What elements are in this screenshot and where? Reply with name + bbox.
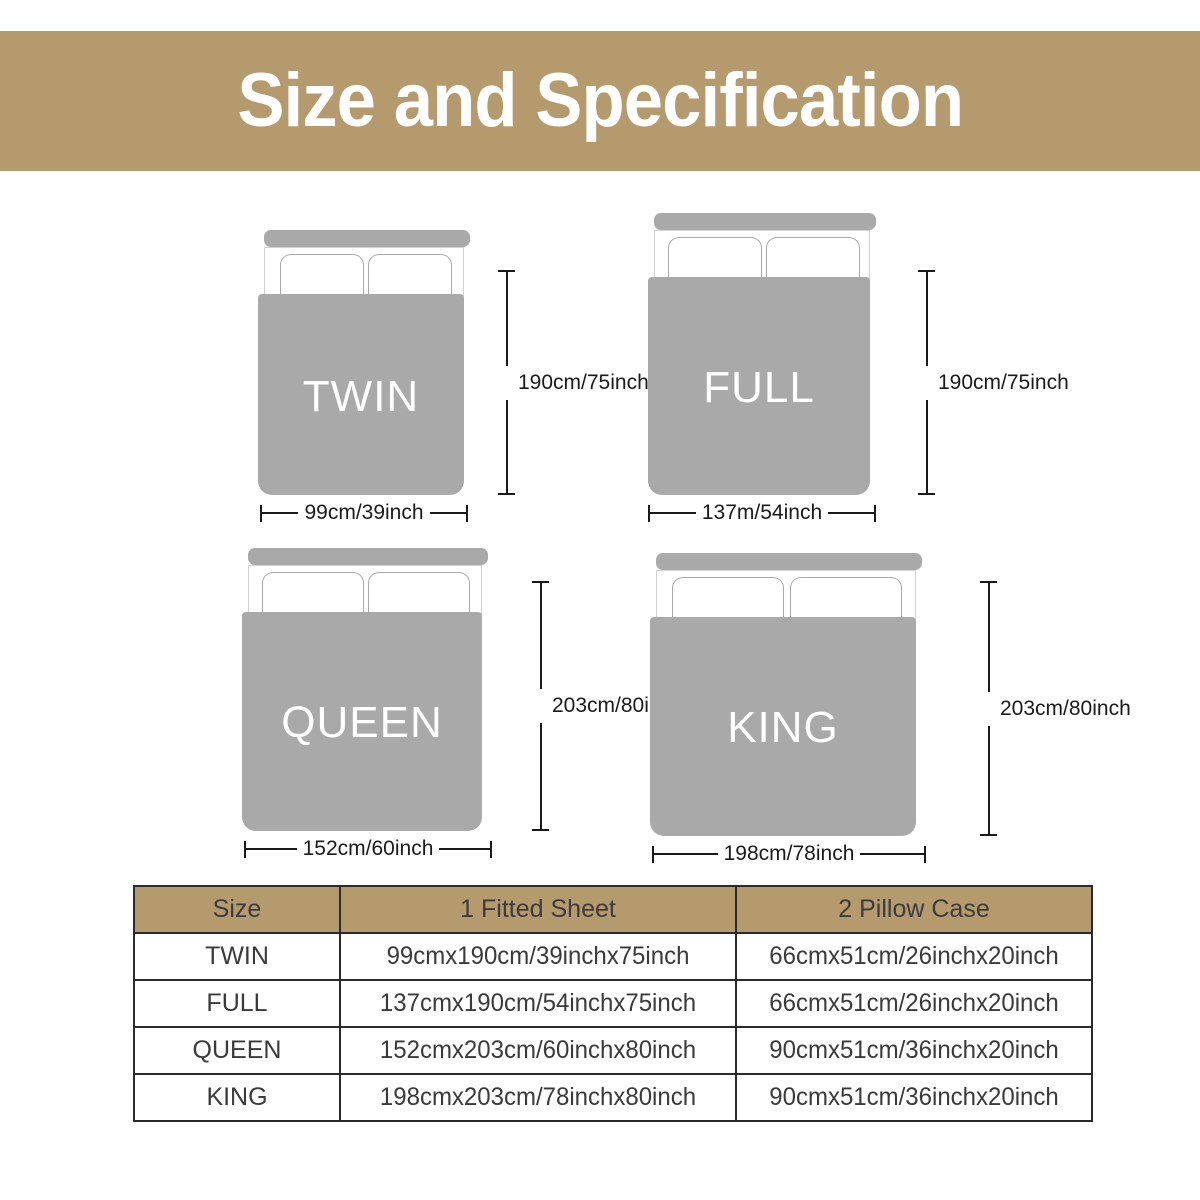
dimension-width-full: 137m/54inch bbox=[648, 502, 876, 524]
cell-fitted-sheet-text: 137cmx190cm/54inchx75inch bbox=[349, 989, 727, 1018]
dimension-cap-bottom bbox=[498, 493, 515, 495]
pillow-left-twin bbox=[280, 254, 364, 299]
bed-diagram-queen: QUEEN 203cm/80inch 152cm/60inch bbox=[242, 548, 617, 858]
cell-pillow-case-text: 66cmx51cm/26inchx20inch bbox=[744, 942, 1084, 971]
dimension-line-lower bbox=[540, 723, 542, 829]
mattress-king: KING bbox=[650, 617, 916, 836]
cell-pillow-case-text: 90cmx51cm/36inchx20inch bbox=[744, 1036, 1084, 1065]
column-header-pillow-case: 2 Pillow Case bbox=[736, 886, 1092, 933]
specification-table: Size 1 Fitted Sheet 2 Pillow Case TWIN 9… bbox=[133, 885, 1093, 1122]
size-specification-infographic: Size and Specification TWIN 190cm/75inch… bbox=[0, 0, 1200, 1200]
dimension-line-right bbox=[439, 848, 490, 850]
dimension-line-left bbox=[262, 512, 298, 514]
bed-illustration-king: KING bbox=[650, 553, 922, 836]
cell-pillow-case: 66cmx51cm/26inchx20inch bbox=[736, 980, 1092, 1027]
cell-pillow-case-text: 90cmx51cm/36inchx20inch bbox=[744, 1083, 1084, 1112]
dimension-line-left bbox=[654, 853, 718, 855]
dimension-line-left bbox=[246, 848, 297, 850]
bed-label-twin: TWIN bbox=[258, 372, 464, 422]
dimension-cap-bottom bbox=[532, 829, 549, 831]
cell-pillow-case: 66cmx51cm/26inchx20inch bbox=[736, 933, 1092, 980]
bed-label-queen: QUEEN bbox=[242, 698, 482, 748]
cell-fitted-sheet-text: 198cmx203cm/78inchx80inch bbox=[349, 1083, 727, 1112]
cell-fitted-sheet: 152cmx203cm/60inchx80inch bbox=[340, 1027, 736, 1074]
cell-fitted-sheet: 198cmx203cm/78inchx80inch bbox=[340, 1074, 736, 1121]
mattress-full: FULL bbox=[648, 277, 870, 495]
headboard-full bbox=[654, 213, 876, 230]
dimension-line-left bbox=[650, 512, 696, 514]
pillow-left-queen bbox=[262, 572, 364, 617]
dimension-line-upper bbox=[988, 583, 990, 692]
dimension-height-full: 190cm/75inch bbox=[918, 270, 935, 495]
pillow-right-full bbox=[766, 237, 860, 282]
mattress-queen: QUEEN bbox=[242, 612, 482, 831]
pillow-right-twin bbox=[368, 254, 452, 299]
dimension-line-lower bbox=[506, 400, 508, 494]
cell-pillow-case: 90cmx51cm/36inchx20inch bbox=[736, 1074, 1092, 1121]
pillow-left-king bbox=[672, 577, 784, 622]
cell-fitted-sheet: 137cmx190cm/54inchx75inch bbox=[340, 980, 736, 1027]
table-header-row: Size 1 Fitted Sheet 2 Pillow Case bbox=[134, 886, 1092, 933]
table-body: TWIN 99cmx190cm/39inchx75inch 66cmx51cm/… bbox=[134, 933, 1092, 1121]
headboard-king bbox=[656, 553, 922, 570]
dimension-line-lower bbox=[926, 400, 928, 494]
mattress-twin: TWIN bbox=[258, 294, 464, 495]
pillow-left-full bbox=[668, 237, 762, 282]
dimension-cap-right bbox=[466, 505, 468, 522]
dimension-height-label-full: 190cm/75inch bbox=[938, 371, 1069, 395]
bed-illustration-twin: TWIN bbox=[258, 230, 470, 495]
column-header-fitted-sheet: 1 Fitted Sheet bbox=[340, 886, 736, 933]
dimension-line-lower bbox=[988, 726, 990, 835]
table-row: QUEEN 152cmx203cm/60inchx80inch 90cmx51c… bbox=[134, 1027, 1092, 1074]
dimension-width-label-full: 137m/54inch bbox=[696, 501, 828, 525]
bed-diagram-full: FULL 190cm/75inch 137m/54inch bbox=[648, 213, 1008, 518]
dimension-line-right bbox=[828, 512, 874, 514]
dimension-height-king: 203cm/80inch bbox=[980, 581, 997, 836]
dimension-line-right bbox=[860, 853, 924, 855]
table-row: FULL 137cmx190cm/54inchx75inch 66cmx51cm… bbox=[134, 980, 1092, 1027]
cell-pillow-case-text: 66cmx51cm/26inchx20inch bbox=[744, 989, 1084, 1018]
dimension-height-twin: 190cm/75inch bbox=[498, 270, 515, 495]
dimension-cap-bottom bbox=[918, 493, 935, 495]
dimension-height-label-king: 203cm/80inch bbox=[1000, 697, 1131, 721]
cell-pillow-case: 90cmx51cm/36inchx20inch bbox=[736, 1027, 1092, 1074]
dimension-width-label-king: 198cm/78inch bbox=[718, 842, 861, 866]
page-title: Size and Specification bbox=[237, 63, 963, 139]
table-row: TWIN 99cmx190cm/39inchx75inch 66cmx51cm/… bbox=[134, 933, 1092, 980]
cell-size: FULL bbox=[134, 980, 340, 1027]
bed-illustration-full: FULL bbox=[648, 213, 876, 495]
bed-diagram-twin: TWIN 190cm/75inch 99cm/39inch bbox=[258, 230, 588, 520]
pillow-right-queen bbox=[368, 572, 470, 617]
dimension-cap-right bbox=[874, 505, 876, 522]
dimension-width-label-queen: 152cm/60inch bbox=[297, 837, 440, 861]
dimension-cap-bottom bbox=[980, 834, 997, 836]
pillow-right-king bbox=[790, 577, 902, 622]
dimension-line-right bbox=[430, 512, 466, 514]
cell-size: KING bbox=[134, 1074, 340, 1121]
cell-fitted-sheet: 99cmx190cm/39inchx75inch bbox=[340, 933, 736, 980]
bed-illustration-queen: QUEEN bbox=[242, 548, 488, 831]
cell-fitted-sheet-text: 99cmx190cm/39inchx75inch bbox=[349, 942, 727, 971]
header-banner: Size and Specification bbox=[0, 31, 1200, 171]
dimension-line-upper bbox=[926, 272, 928, 366]
cell-size: TWIN bbox=[134, 933, 340, 980]
cell-fitted-sheet-text: 152cmx203cm/60inchx80inch bbox=[349, 1036, 727, 1065]
bed-label-king: KING bbox=[650, 703, 916, 753]
dimension-cap-right bbox=[924, 846, 926, 863]
headboard-twin bbox=[264, 230, 470, 247]
column-header-size: Size bbox=[134, 886, 340, 933]
dimension-width-twin: 99cm/39inch bbox=[260, 502, 468, 524]
table-row: KING 198cmx203cm/78inchx80inch 90cmx51cm… bbox=[134, 1074, 1092, 1121]
table-header: Size 1 Fitted Sheet 2 Pillow Case bbox=[134, 886, 1092, 933]
headboard-queen bbox=[248, 548, 488, 565]
dimension-width-queen: 152cm/60inch bbox=[244, 838, 492, 860]
dimension-width-king: 198cm/78inch bbox=[652, 843, 926, 865]
dimension-cap-right bbox=[490, 841, 492, 858]
dimension-line-upper bbox=[506, 272, 508, 366]
dimension-height-label-twin: 190cm/75inch bbox=[518, 371, 649, 395]
cell-size: QUEEN bbox=[134, 1027, 340, 1074]
bed-diagram-king: KING 203cm/80inch 198cm/78inch bbox=[650, 553, 1070, 865]
dimension-width-label-twin: 99cm/39inch bbox=[298, 501, 429, 525]
dimension-height-queen: 203cm/80inch bbox=[532, 581, 549, 831]
bed-label-full: FULL bbox=[648, 363, 870, 413]
dimension-line-upper bbox=[540, 583, 542, 689]
